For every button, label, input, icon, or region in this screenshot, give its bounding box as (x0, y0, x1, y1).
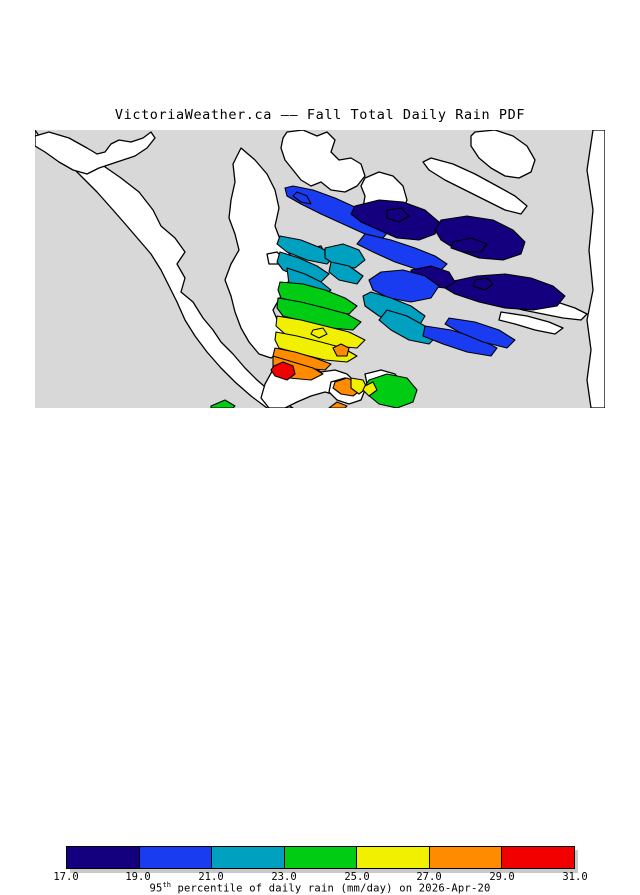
colorbar-segment-4 (285, 847, 358, 868)
page-title: VictoriaWeather.ca —— Fall Total Daily R… (0, 107, 640, 123)
caption-superscript: th (163, 881, 171, 889)
weather-map-page: VictoriaWeather.ca —— Fall Total Daily R… (0, 0, 640, 480)
colorbar-segment-2 (140, 847, 213, 868)
colorbar-caption: 95th percentile of daily rain (mm/day) o… (0, 881, 640, 895)
colorbar-segment-7 (502, 847, 574, 868)
colorbar-segment-3 (212, 847, 285, 868)
colorbar-segment-1 (67, 847, 140, 868)
map-panel[interactable] (35, 130, 605, 408)
caption-prefix: 95 (149, 883, 162, 895)
colorbar-segment-6 (430, 847, 503, 868)
map-graphic (35, 130, 605, 408)
caption-suffix: percentile of daily rain (mm/day) on 202… (171, 883, 491, 895)
colorbar-strip[interactable] (66, 846, 575, 869)
colorbar-legend: 17.0 19.0 21.0 23.0 25.0 27.0 29.0 31.0 … (0, 420, 640, 480)
colorbar-segment-5 (357, 847, 430, 868)
